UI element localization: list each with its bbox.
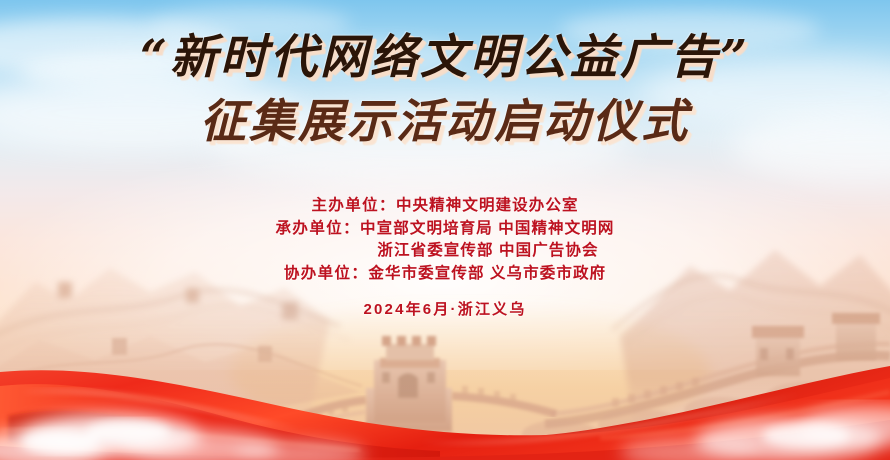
poster-banner: “新时代网络文明公益广告” 征集展示活动启动仪式 主办单位：中央精神文明建设办公…	[0, 0, 890, 460]
poster-title-line-2: 征集展示活动启动仪式	[0, 98, 890, 144]
red-silk-ribbon	[0, 320, 890, 460]
credit-value: 浙江省委宣传部 中国广告协会	[377, 242, 598, 259]
title-block: “新时代网络文明公益广告” 征集展示活动启动仪式	[0, 34, 890, 144]
credit-row: 协办单位：金华市委宣传部 义乌市委市政府	[0, 263, 890, 286]
credits-block: 主办单位：中央精神文明建设办公室 承办单位：中宣部文明培育局 中国精神文明网 浙…	[0, 195, 890, 319]
credit-row: 承办单位：中宣部文明培育局 中国精神文明网	[0, 218, 890, 241]
event-date-location: 2024年6月·浙江义乌	[0, 298, 890, 319]
credit-label: 协办单位：	[284, 265, 369, 282]
poster-title-line-1: “新时代网络文明公益广告”	[0, 34, 890, 81]
credit-value: 中宣部文明培育局 中国精神文明网	[360, 220, 614, 237]
credit-row: 浙江省委宣传部 中国广告协会	[0, 240, 890, 263]
credit-value: 金华市委宣传部 义乌市委市政府	[368, 265, 606, 282]
credit-row: 主办单位：中央精神文明建设办公室	[0, 195, 890, 218]
credit-label: 主办单位：	[311, 197, 396, 214]
credit-value: 中央精神文明建设办公室	[396, 197, 579, 214]
credit-label: 承办单位：	[276, 220, 361, 237]
